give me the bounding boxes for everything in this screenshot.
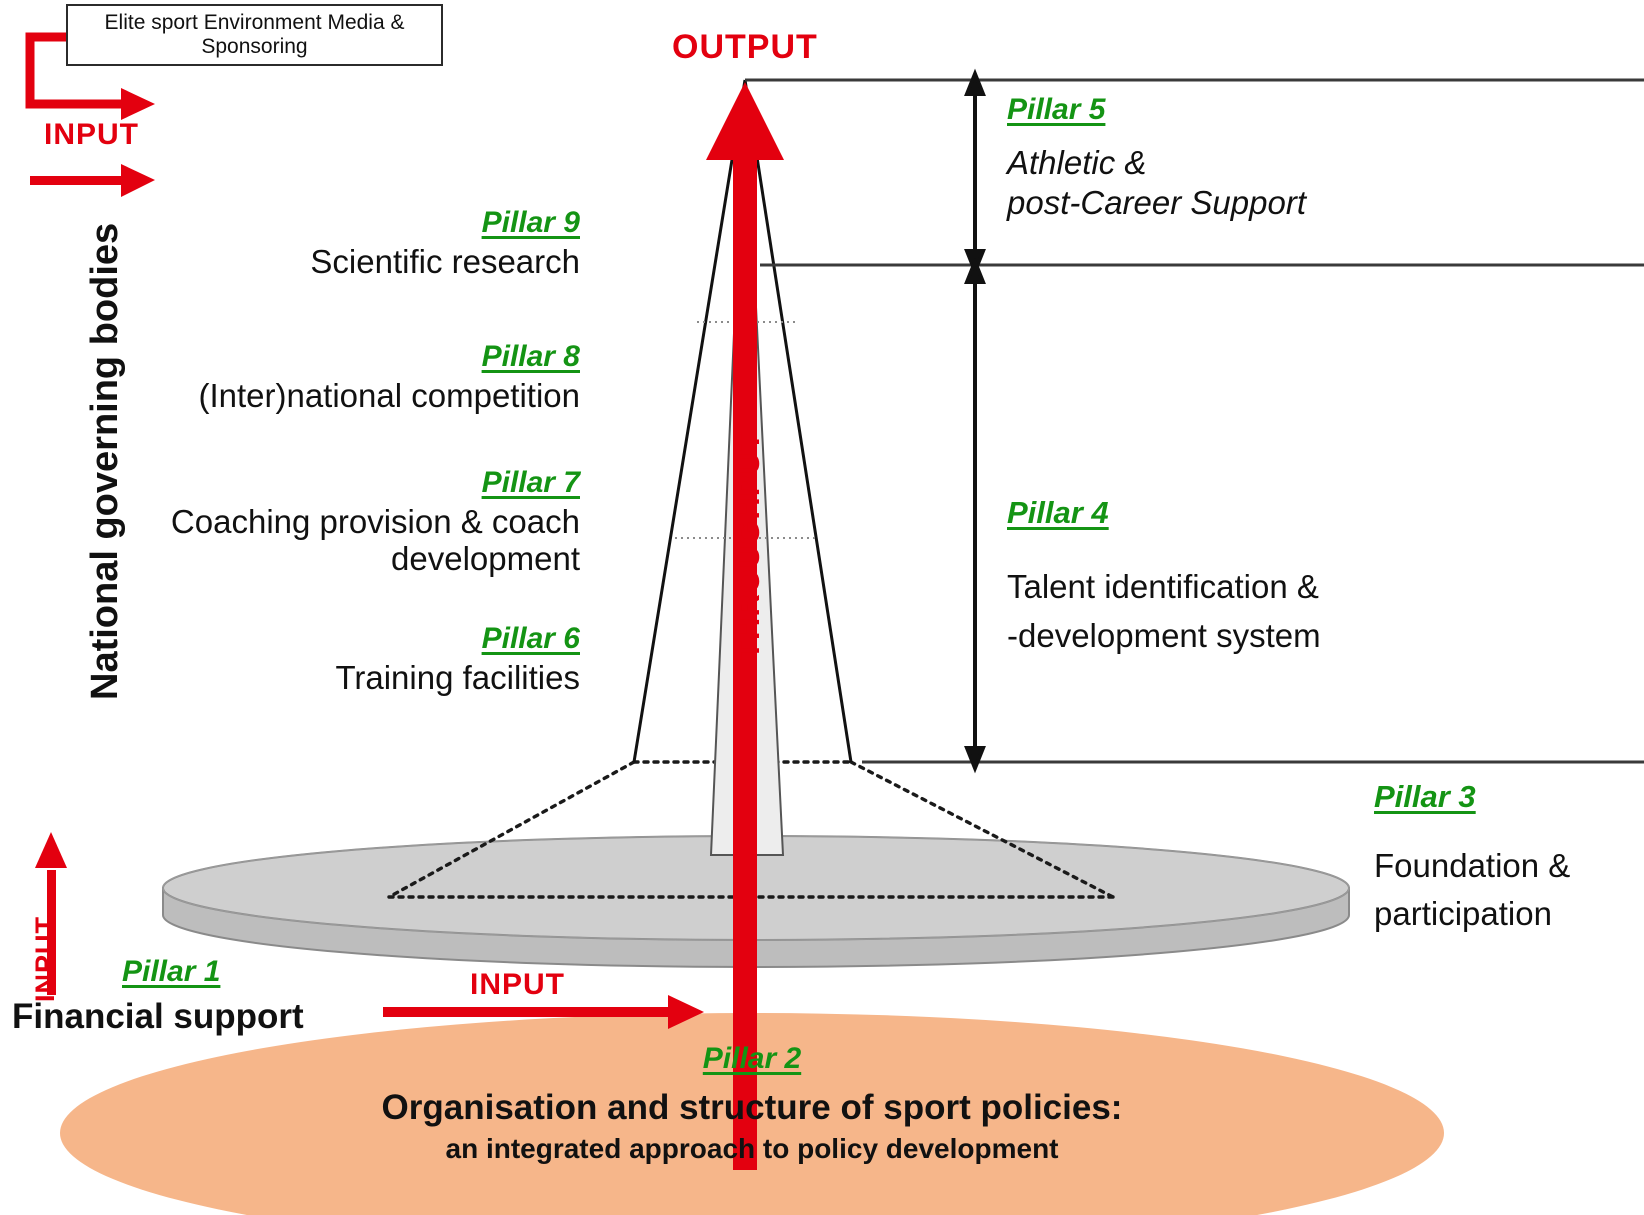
input-label-top: INPUT: [44, 118, 139, 152]
pillar-6-block: Pillar 6 Training facilities: [100, 622, 580, 697]
pillar-5-body: Athletic & post-Career Support: [1007, 143, 1627, 224]
pillar-4-block: Pillar 4 Talent identification & -develo…: [1007, 494, 1627, 661]
pillar-5-block: Pillar 5 Athletic & post-Career Support: [1007, 92, 1627, 223]
pillar-2-subtitle: an integrated approach to policy develop…: [0, 1133, 1504, 1165]
pillar-9-body: Scientific research: [100, 244, 580, 281]
pillar-7-tag: Pillar 7: [80, 466, 580, 500]
input-label-left: INPUT: [30, 916, 61, 1002]
pillar-1-block: Pillar 1 Financial support: [122, 955, 304, 1037]
environment-box: Elite sport Environment Media & Sponsori…: [66, 4, 443, 66]
pillar-7-body: Coaching provision & coach development: [80, 504, 580, 578]
pillar-8-body: (Inter)national competition: [80, 378, 580, 415]
pillar-3-block: Pillar 3 Foundation & participation: [1374, 778, 1644, 938]
pillar-1-tag: Pillar 1: [122, 955, 304, 989]
pillar-2-body: Organisation and structure of sport poli…: [0, 1088, 1504, 1128]
pillar-2-block: Pillar 2 Organisation and structure of s…: [0, 1042, 1504, 1165]
vertical-axis-label-wrap: National governing bodies: [84, 700, 561, 743]
throughput-label: THROUGHPUT: [731, 431, 767, 660]
splisss-pillar-diagram: Elite sport Environment Media & Sponsori…: [0, 0, 1644, 1215]
pillar-3-tag: Pillar 3: [1374, 778, 1644, 816]
pillar-9-tag: Pillar 9: [100, 206, 580, 240]
pillar-7-block: Pillar 7 Coaching provision & coach deve…: [80, 466, 580, 578]
pillar-2-tag: Pillar 2: [703, 1042, 801, 1076]
pillar-5-tag: Pillar 5: [1007, 92, 1627, 129]
pillar-8-block: Pillar 8 (Inter)national competition: [80, 340, 580, 415]
pillar-4-body: Talent identification & -development sys…: [1007, 562, 1627, 661]
pillar-9-block: Pillar 9 Scientific research: [100, 206, 580, 281]
pillar-1-body: Financial support: [12, 997, 304, 1037]
pillar-8-tag: Pillar 8: [80, 340, 580, 374]
input-arrow-top-second: [30, 164, 155, 197]
pillar-3-body: Foundation & participation: [1374, 842, 1644, 938]
output-label: OUTPUT: [672, 28, 818, 67]
throughput-label-wrap: THROUGHPUT: [731, 660, 960, 696]
input-arrow-environment-head: [121, 88, 155, 120]
pillar-6-body: Training facilities: [100, 660, 580, 697]
input-label-bottom: INPUT: [470, 968, 565, 1002]
tier-measure-arrows: [967, 74, 983, 768]
pillar-4-tag: Pillar 4: [1007, 494, 1627, 532]
pillar-6-tag: Pillar 6: [100, 622, 580, 656]
